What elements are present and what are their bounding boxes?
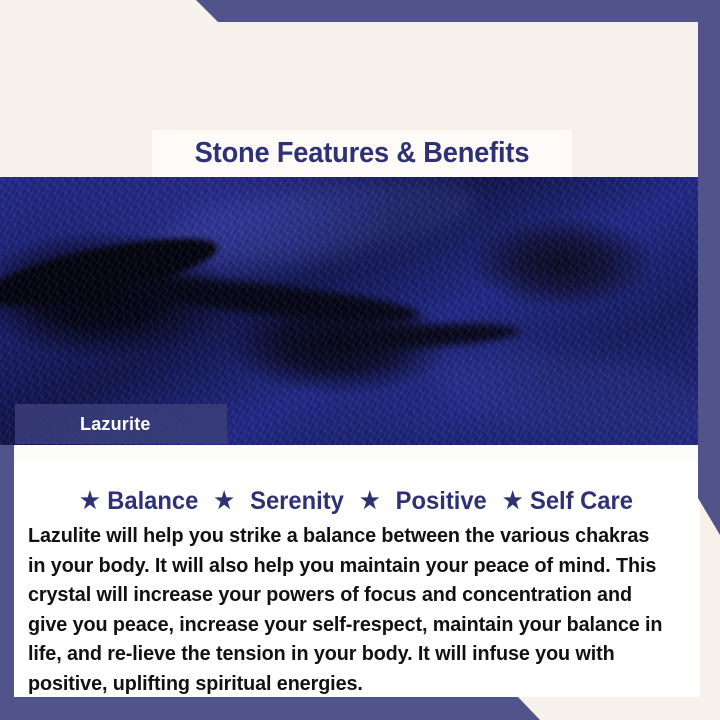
content-panel: ★ Balance ★ Serenity ★ Positive ★ Self C… [14, 445, 700, 697]
frame-bottom-band [0, 697, 720, 720]
stone-benefits-poster: BUDDHA STONES Stone Features & Benefits … [0, 0, 720, 720]
keyword-balance: Balance [107, 487, 198, 515]
star-icon: ★ [214, 487, 234, 513]
frame-right-band [698, 0, 720, 535]
frame-left-band [0, 445, 14, 720]
benefit-keywords: ★ Balance ★ Serenity ★ Positive ★ Self C… [31, 487, 683, 516]
star-icon: ★ [80, 487, 100, 513]
page-title: Stone Features & Benefits [195, 137, 530, 170]
stone-name-label: Lazurite [80, 414, 151, 435]
keyword-serenity: Serenity [250, 487, 344, 515]
star-icon: ★ [503, 487, 523, 513]
content-panel-inner: ★ Balance ★ Serenity ★ Positive ★ Self C… [14, 459, 700, 697]
stone-name-tag: Lazurite [15, 404, 227, 444]
title-banner: Stone Features & Benefits [152, 130, 572, 177]
keyword-positive: Positive [396, 487, 487, 515]
star-icon: ★ [360, 487, 380, 513]
keyword-self-care: Self Care [530, 487, 633, 515]
stone-description: Lazulite will help you strike a balance … [28, 521, 667, 698]
